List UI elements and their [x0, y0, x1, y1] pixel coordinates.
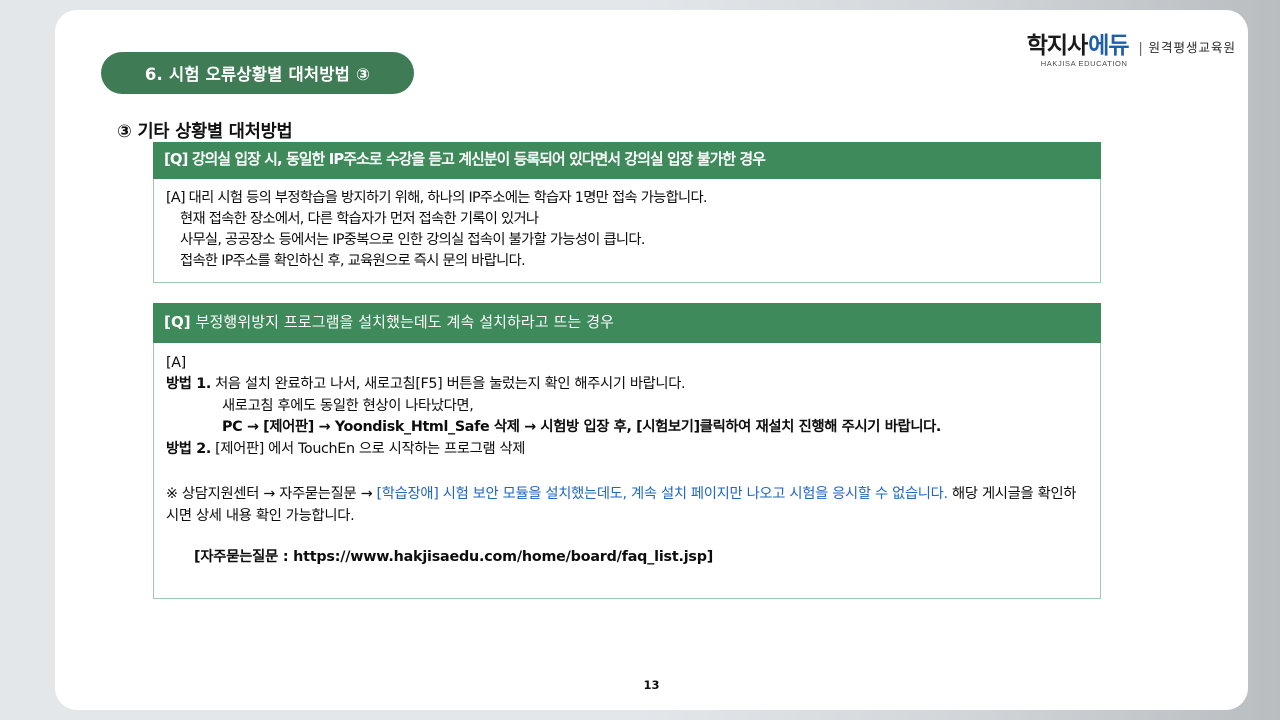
answer-line: 현재 접속한 장소에서, 다른 학습자가 먼저 접속한 기록이 있거나: [166, 209, 1088, 230]
logo-english-subtext: HAKJISA EDUCATION: [1041, 60, 1128, 68]
answer-label: [A]: [166, 353, 1088, 374]
method-1-sub-line: 새로고침 후에도 동일한 현상이 나타났다면,: [166, 396, 1088, 417]
logo-divider: |: [1139, 41, 1143, 56]
method-1-steps-line: PC → [제어판] → Yoondisk_Html_Safe 삭제 → 시험방…: [166, 417, 1088, 438]
answer-line: [A] 대리 시험 등의 부정학습을 방지하기 위해, 하나의 IP주소에는 학…: [166, 188, 1088, 209]
answer-body-2: [A] 방법 1. 처음 설치 완료하고 나서, 새로고침[F5] 버튼을 눌렀…: [153, 343, 1101, 599]
method-1-text: 처음 설치 완료하고 나서, 새로고침[F5] 버튼을 눌렀는지 확인 해주시기…: [211, 376, 685, 392]
question-header-1: [Q] 강의실 입장 시, 동일한 IP주소로 수강을 듣고 계신분이 등록되어…: [153, 142, 1101, 179]
qa-block-2: [Q] 부정행위방지 프로그램을 설치했는데도 계속 설치하라고 뜨는 경우 […: [153, 303, 1101, 599]
logo-korean-accent: 에듀: [1088, 35, 1128, 58]
logo-subtitle: 원격평생교육원: [1148, 37, 1236, 56]
method-1-line: 방법 1. 처음 설치 완료하고 나서, 새로고침[F5] 버튼을 눌렀는지 확…: [166, 374, 1088, 395]
slide-canvas: 학지사에듀 HAKJISA EDUCATION | 원격평생교육원 6. 시험 …: [55, 10, 1248, 710]
qa-block-1: [Q] 강의실 입장 시, 동일한 IP주소로 수강을 듣고 계신분이 등록되어…: [153, 142, 1101, 283]
answer-body-1: [A] 대리 시험 등의 부정학습을 방지하기 위해, 하나의 IP주소에는 학…: [153, 179, 1101, 283]
faq-link-text[interactable]: [학습장애] 시험 보안 모듈을 설치했는데도, 계속 설치 페이지만 나오고 …: [377, 486, 948, 502]
method-2-label: 방법 2.: [166, 441, 211, 457]
logo-korean-primary: 학지사: [1027, 35, 1087, 58]
vertical-spacer: [166, 460, 1088, 482]
support-note-prefix: ※ 상담지원센터 → 자주묻는질문 →: [166, 486, 377, 502]
question-tag-2: [Q]: [164, 313, 191, 331]
question-tag-1: [Q]: [164, 151, 188, 168]
brand-logo: 학지사에듀 HAKJISA EDUCATION | 원격평생교육원: [1027, 18, 1236, 58]
question-text-2: 부정행위방지 프로그램을 설치했는데도 계속 설치하라고 뜨는 경우: [191, 313, 614, 331]
answer-line: 접속한 IP주소를 확인하신 후, 교육원으로 즉시 문의 바랍니다.: [166, 251, 1088, 272]
faq-url-line[interactable]: [자주묻는질문 : https://www.hakjisaedu.com/hom…: [166, 547, 1088, 568]
method-1-label: 방법 1.: [166, 376, 211, 392]
slide-title-pill: 6. 시험 오류상황별 대처방법 ③: [101, 52, 414, 94]
method-2-text: [제어판] 에서 TouchEn 으로 시작하는 프로그램 삭제: [211, 441, 525, 457]
method-2-line: 방법 2. [제어판] 에서 TouchEn 으로 시작하는 프로그램 삭제: [166, 439, 1088, 460]
support-note: ※ 상담지원센터 → 자주묻는질문 → [학습장애] 시험 보안 모듈을 설치했…: [166, 484, 1088, 527]
section-heading: ③ 기타 상황별 대처방법: [117, 118, 292, 143]
page-number: 13: [55, 678, 1248, 692]
slide-title-text: 6. 시험 오류상황별 대처방법 ③: [145, 61, 370, 85]
logo-wordmark: 학지사에듀 HAKJISA EDUCATION: [1027, 35, 1129, 58]
question-text-1: 강의실 입장 시, 동일한 IP주소로 수강을 듣고 계신분이 등록되어 있다면…: [188, 151, 765, 168]
question-header-2: [Q] 부정행위방지 프로그램을 설치했는데도 계속 설치하라고 뜨는 경우: [153, 303, 1101, 343]
answer-line: 사무실, 공공장소 등에서는 IP중복으로 인한 강의실 접속이 불가할 가능성…: [166, 230, 1088, 251]
